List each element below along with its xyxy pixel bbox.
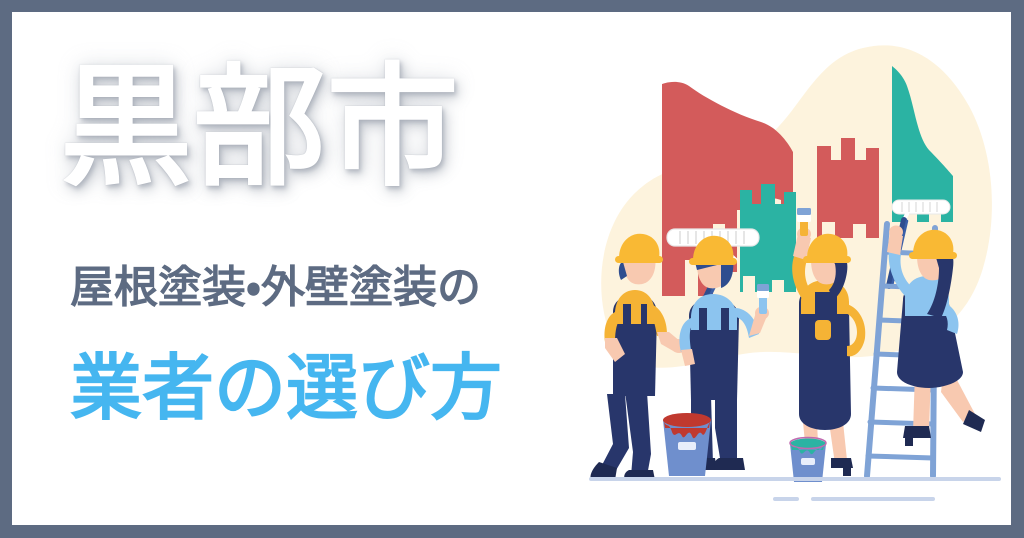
- house-painters-illustration: [585, 24, 1005, 504]
- banner-canvas: 黒部市 屋根塗装・外壁塗装の 業者の選び方: [12, 12, 1011, 525]
- text-block: 黒部市 屋根塗装・外壁塗装の 業者の選び方: [12, 12, 612, 525]
- red-paint-bucket-icon: [663, 413, 711, 476]
- sub-title: 屋根塗装・外壁塗装の: [70, 264, 481, 312]
- main-title: 業者の選び方: [70, 352, 502, 428]
- city-title: 黒部市: [60, 62, 460, 194]
- banner: 黒部市 屋根塗装・外壁塗装の 業者の選び方: [0, 0, 1024, 538]
- teal-paint-bucket-icon: [790, 438, 826, 483]
